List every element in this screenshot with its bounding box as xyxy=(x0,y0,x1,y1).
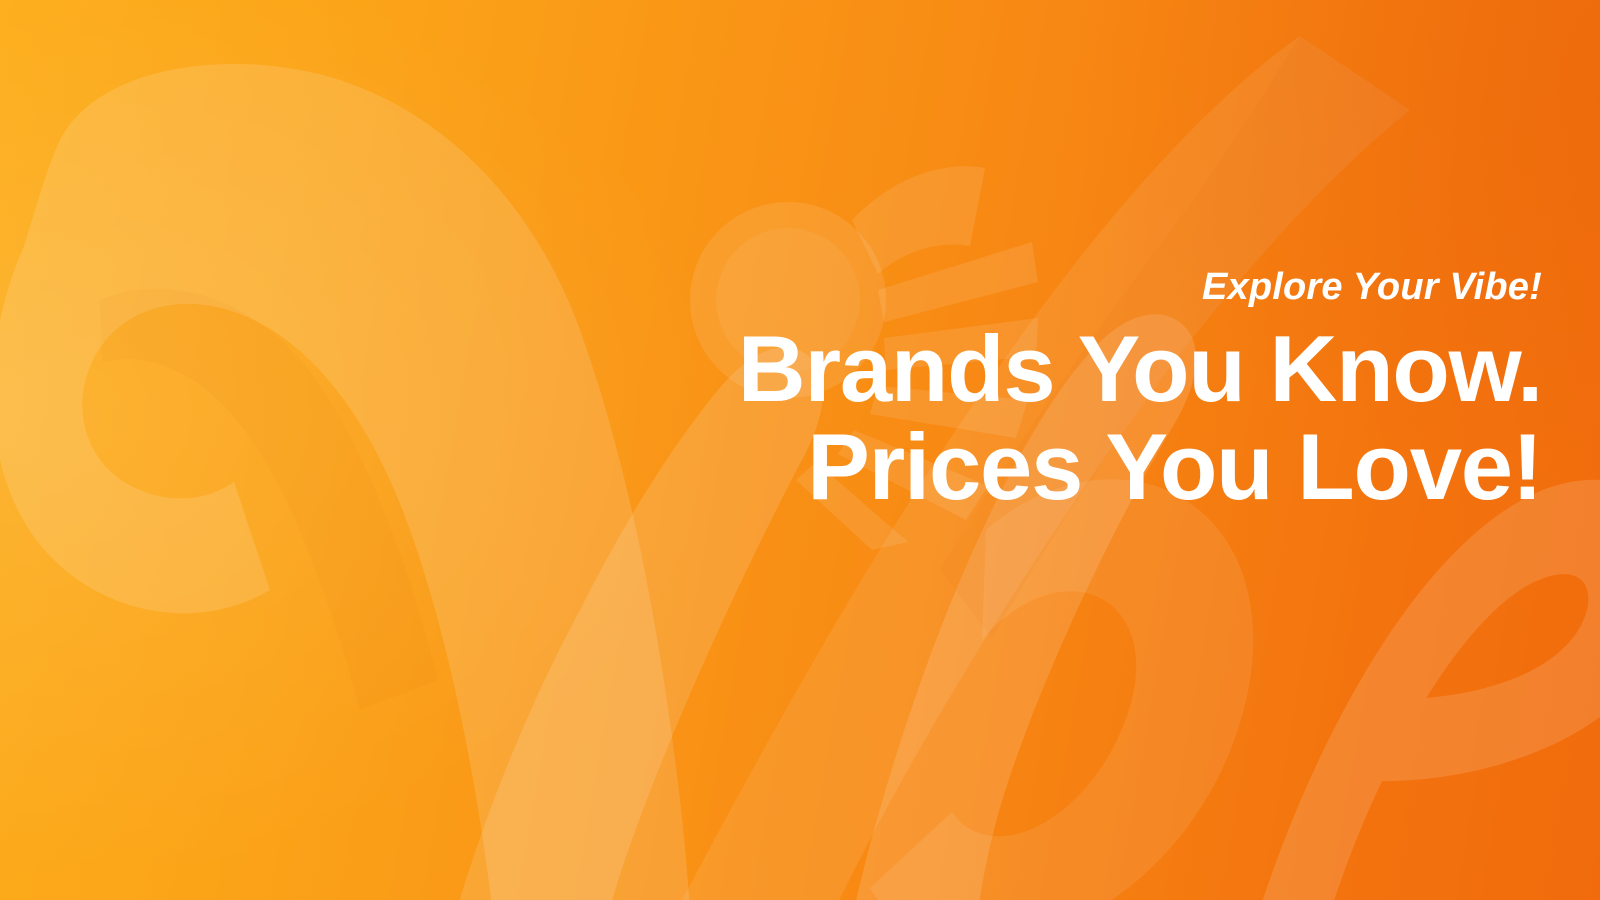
promo-banner: Explore Your Vibe! Brands You Know. Pric… xyxy=(0,0,1600,900)
headline-line-2: Prices You Love! xyxy=(482,418,1542,516)
headline-line-1: Brands You Know. xyxy=(482,320,1542,418)
hero-copy: Explore Your Vibe! Brands You Know. Pric… xyxy=(482,268,1542,516)
page-title: Brands You Know. Prices You Love! xyxy=(482,320,1542,516)
eyebrow-text: Explore Your Vibe! xyxy=(482,268,1542,306)
